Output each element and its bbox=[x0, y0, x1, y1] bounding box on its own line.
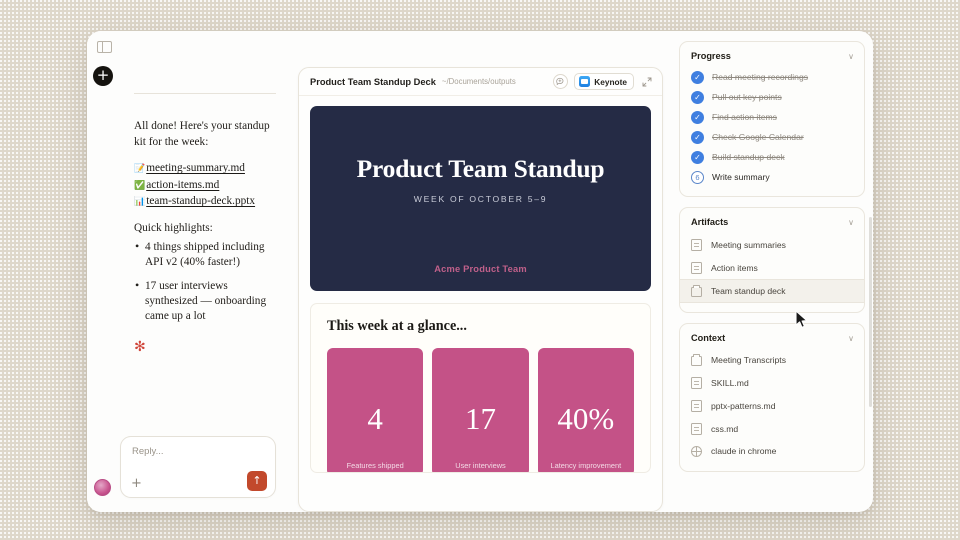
progress-item[interactable]: ✓ Build standup deck bbox=[680, 147, 864, 167]
artifact-label: Meeting summaries bbox=[711, 240, 786, 250]
document-body: Product Team Standup WEEK OF OCTOBER 5–9… bbox=[299, 96, 662, 511]
chat-divider bbox=[134, 93, 276, 94]
check-icon: ✓ bbox=[691, 151, 704, 164]
chevron-down-icon[interactable]: ∨ bbox=[848, 218, 854, 227]
composer-area: Reply... + ↑ bbox=[87, 436, 292, 512]
document-card: Product Team Standup Deck ~/Documents/ou… bbox=[298, 67, 663, 512]
expand-diagonal-icon[interactable] bbox=[640, 75, 654, 89]
chat-intro-text: All done! Here's your standup kit for th… bbox=[134, 119, 276, 150]
check-mark-icon: ✅ bbox=[134, 179, 145, 195]
highlights-list: 4 things shipped including API v2 (40% f… bbox=[134, 240, 276, 325]
slide-footer: Acme Product Team bbox=[310, 264, 651, 274]
check-icon: ✓ bbox=[691, 71, 704, 84]
file-icon bbox=[691, 239, 702, 251]
progress-item-label: Pull out key points bbox=[712, 92, 782, 102]
context-row-meeting-transcripts[interactable]: Meeting Transcripts bbox=[680, 349, 864, 371]
panel-scrollbar[interactable] bbox=[869, 217, 872, 407]
attach-plus-icon[interactable]: + bbox=[131, 476, 142, 491]
file-link-label: meeting-summary.md bbox=[146, 162, 245, 174]
artifact-row-action-items[interactable]: Action items bbox=[680, 256, 864, 279]
file-link-label: action-items.md bbox=[146, 179, 219, 191]
context-label: Meeting Transcripts bbox=[711, 355, 786, 365]
progress-item-label: Find action items bbox=[712, 112, 777, 122]
context-label: css.md bbox=[711, 424, 738, 434]
section-title: Progress bbox=[691, 51, 848, 61]
stat-value: 40% bbox=[557, 403, 614, 434]
list-item: 4 things shipped including API v2 (40% f… bbox=[134, 240, 276, 271]
plus-circle-icon[interactable]: + bbox=[93, 66, 113, 86]
globe-icon bbox=[691, 446, 702, 457]
keynote-app-icon bbox=[579, 76, 590, 87]
folder-icon bbox=[691, 356, 702, 366]
document-column: Product Team Standup Deck ~/Documents/ou… bbox=[292, 31, 673, 512]
file-link-standup-deck[interactable]: 📊team-standup-deck.pptx bbox=[134, 194, 276, 211]
artifact-row-meeting-summaries[interactable]: Meeting summaries bbox=[680, 233, 864, 256]
progress-item-label: Write summary bbox=[712, 172, 770, 182]
stat-card: 4 Features shipped bbox=[327, 348, 423, 473]
context-label: SKILL.md bbox=[711, 378, 749, 388]
sidebar-toggle-icon[interactable] bbox=[97, 41, 112, 53]
stat-value: 4 bbox=[367, 403, 383, 434]
stat-label: Latency improvement bbox=[538, 461, 634, 470]
context-row-pptx-patterns-md[interactable]: pptx-patterns.md bbox=[680, 394, 864, 417]
chat-rail-top: + bbox=[87, 31, 292, 93]
progress-item[interactable]: ✓ Read meeting recordings bbox=[680, 67, 864, 87]
progress-item[interactable]: ✓ Find action items bbox=[680, 107, 864, 127]
stat-card: 17 User interviews bbox=[432, 348, 528, 473]
progress-item-label: Read meeting recordings bbox=[712, 72, 808, 82]
check-icon: ✓ bbox=[691, 111, 704, 124]
reply-composer[interactable]: Reply... + ↑ bbox=[120, 436, 276, 498]
document-header: Product Team Standup Deck ~/Documents/ou… bbox=[299, 68, 662, 96]
file-link-action-items[interactable]: ✅action-items.md bbox=[134, 178, 276, 195]
progress-section: Progress ∨ ✓ Read meeting recordings ✓ P… bbox=[679, 41, 865, 197]
context-section: Context ∨ Meeting Transcripts SKILL.md p… bbox=[679, 323, 865, 472]
step-number-badge: 6 bbox=[691, 171, 704, 184]
right-panel: Progress ∨ ✓ Read meeting recordings ✓ P… bbox=[673, 31, 873, 512]
progress-item[interactable]: ✓ Pull out key points bbox=[680, 87, 864, 107]
context-label: claude in chrome bbox=[711, 446, 776, 456]
file-icon bbox=[691, 262, 702, 274]
artifact-label: Team standup deck bbox=[711, 286, 786, 296]
reply-input-placeholder[interactable]: Reply... bbox=[132, 446, 266, 457]
document-path: ~/Documents/outputs bbox=[442, 77, 516, 86]
slide-title: Product Team Standup WEEK OF OCTOBER 5–9… bbox=[310, 106, 651, 291]
check-icon: ✓ bbox=[691, 131, 704, 144]
stats-row: 4 Features shipped 17 User interviews 40… bbox=[327, 348, 634, 473]
stats-heading: This week at a glance... bbox=[327, 318, 634, 335]
check-icon: ✓ bbox=[691, 91, 704, 104]
context-row-css-md[interactable]: css.md bbox=[680, 417, 864, 440]
chat-bubble-plus-icon[interactable] bbox=[553, 74, 568, 89]
highlights-label: Quick highlights: bbox=[134, 222, 276, 234]
chat-sidebar: + All done! Here's your standup kit for … bbox=[87, 31, 292, 512]
context-label: pptx-patterns.md bbox=[711, 401, 775, 411]
note-icon: 📝 bbox=[134, 162, 145, 178]
stat-value: 17 bbox=[465, 403, 496, 434]
open-with-keynote-button[interactable]: Keynote bbox=[574, 73, 634, 90]
chevron-down-icon[interactable]: ∨ bbox=[848, 334, 854, 343]
stat-card: 40% Latency improvement bbox=[538, 348, 634, 473]
context-row-skill-md[interactable]: SKILL.md bbox=[680, 371, 864, 394]
bar-chart-icon: 📊 bbox=[134, 195, 145, 211]
chat-message-scroll: All done! Here's your standup kit for th… bbox=[87, 93, 292, 436]
section-title: Context bbox=[691, 333, 848, 343]
progress-item-label: Build standup deck bbox=[712, 152, 785, 162]
file-icon bbox=[691, 377, 702, 389]
context-section-header[interactable]: Context ∨ bbox=[680, 333, 864, 343]
section-title: Artifacts bbox=[691, 217, 848, 227]
progress-section-header[interactable]: Progress ∨ bbox=[680, 51, 864, 61]
slide-stats: This week at a glance... 4 Features ship… bbox=[310, 303, 651, 473]
folder-icon bbox=[691, 287, 702, 297]
list-item: 17 user interviews synthesized — onboard… bbox=[134, 279, 276, 325]
file-link-label: team-standup-deck.pptx bbox=[146, 195, 255, 207]
keynote-button-label: Keynote bbox=[594, 77, 627, 87]
artifact-label: Action items bbox=[711, 263, 758, 273]
file-link-meeting-summary[interactable]: 📝meeting-summary.md bbox=[134, 161, 276, 178]
file-icon bbox=[691, 423, 702, 435]
slide-heading: Product Team Standup bbox=[357, 154, 605, 184]
app-window: + All done! Here's your standup kit for … bbox=[87, 31, 873, 512]
artifacts-section-header[interactable]: Artifacts ∨ bbox=[680, 217, 864, 227]
context-row-claude-in-chrome[interactable]: claude in chrome bbox=[680, 440, 864, 462]
chat-file-list: 📝meeting-summary.md ✅action-items.md 📊te… bbox=[134, 161, 276, 211]
artifact-row-team-standup-deck[interactable]: Team standup deck bbox=[680, 279, 864, 303]
chevron-down-icon[interactable]: ∨ bbox=[848, 52, 854, 61]
progress-item-label: Check Google Calendar bbox=[712, 132, 804, 142]
send-button[interactable]: ↑ bbox=[247, 471, 267, 491]
progress-item[interactable]: 6 Write summary bbox=[680, 167, 864, 187]
avatar[interactable] bbox=[94, 479, 111, 496]
slide-subheading: WEEK OF OCTOBER 5–9 bbox=[414, 194, 547, 204]
file-icon bbox=[691, 400, 702, 412]
artifacts-section: Artifacts ∨ Meeting summaries Action ite… bbox=[679, 207, 865, 313]
document-title: Product Team Standup Deck bbox=[310, 77, 436, 87]
sparkle-icon: ✻ bbox=[134, 339, 276, 355]
stat-label: Features shipped bbox=[327, 461, 423, 470]
progress-item[interactable]: ✓ Check Google Calendar bbox=[680, 127, 864, 147]
stat-label: User interviews bbox=[432, 461, 528, 470]
